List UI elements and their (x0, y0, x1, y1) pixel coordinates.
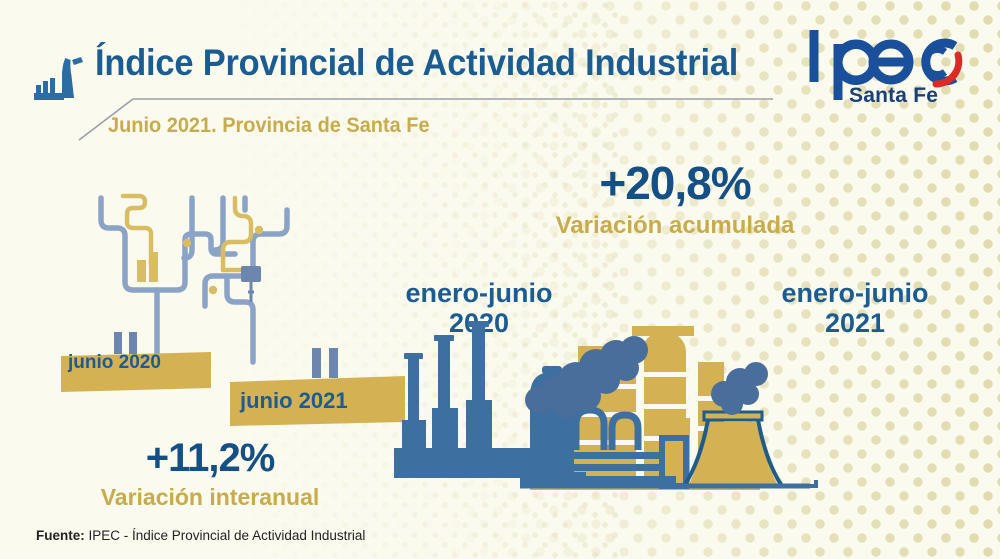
source-footer: Fuente: IPEC - Índice Provincial de Acti… (36, 528, 365, 543)
stat-interanual-caption: Variación interanual (80, 484, 340, 510)
industry-illustration (380, 300, 850, 515)
stat-interanual: +11,2% Variación interanual (80, 438, 340, 510)
bar-2021-chimney-1 (312, 348, 321, 378)
source-text: IPEC - Índice Provincial de Actividad In… (85, 528, 366, 543)
stat-interanual-value: +11,2% (80, 438, 340, 478)
ground-line-right (780, 480, 816, 486)
bar-label-2021: junio 2021 (240, 388, 348, 414)
page-title: Índice Provincial de Actividad Industria… (95, 42, 738, 84)
blue-factory (394, 321, 532, 478)
source-label: Fuente: (36, 528, 85, 543)
bar-2020-chimney-2 (129, 332, 137, 354)
logo-subtitle: Santa Fe (849, 84, 938, 108)
bar-2021-chimney-2 (329, 348, 338, 378)
page-subtitle: Junio 2021. Provincia de Santa Fe (108, 114, 430, 138)
stat-acumulada: +20,8% Variación acumulada (525, 160, 825, 240)
stat-acumulada-caption: Variación acumulada (525, 212, 825, 240)
monthly-comparison-bars (45, 330, 415, 435)
bar-label-2020: junio 2020 (68, 352, 161, 374)
bar-2020-chimney-1 (114, 332, 122, 354)
infographic-canvas: Índice Provincial de Actividad Industria… (0, 0, 1000, 559)
stat-acumulada-value: +20,8% (525, 160, 825, 206)
